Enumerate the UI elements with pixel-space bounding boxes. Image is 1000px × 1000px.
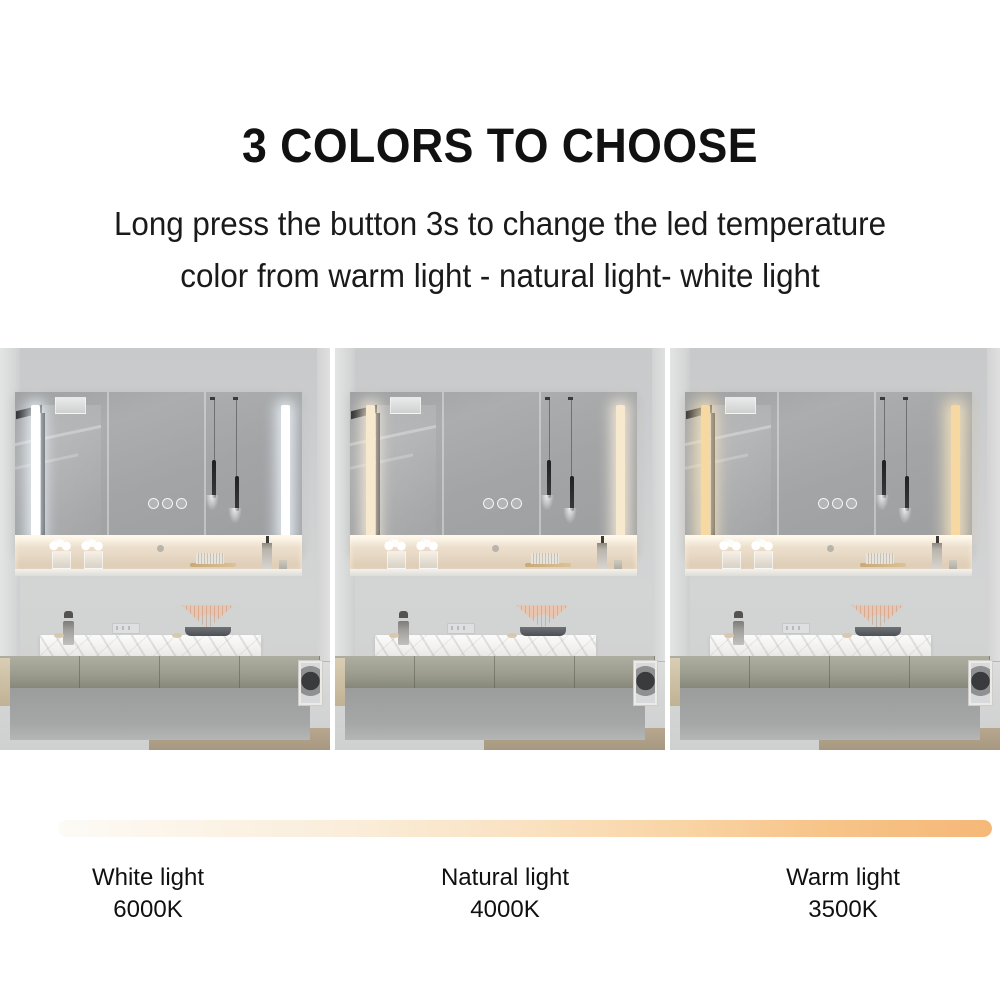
- touch-dot-1[interactable]: [818, 498, 829, 509]
- illuminated-shelf: [350, 535, 637, 569]
- vanity-drawers: [670, 656, 990, 688]
- vanity-drawer: [80, 656, 160, 688]
- pendant-light-glow-1: [205, 495, 219, 511]
- wooden-brush-bristles: [196, 553, 224, 564]
- led-strip-left: [366, 405, 376, 540]
- flower-vase-2: [754, 551, 773, 569]
- vanity-under-shadow: [680, 688, 980, 740]
- vanity-under-shadow: [345, 688, 645, 740]
- amenity-jar: [614, 560, 622, 569]
- pendant-wire-1: [884, 400, 885, 461]
- led-strip-left: [701, 405, 711, 540]
- cabinet-door-divider-1: [107, 392, 109, 553]
- shelf-front-lip: [15, 569, 302, 575]
- led-strip-left: [31, 405, 41, 540]
- pendant-wire-1: [549, 400, 550, 461]
- decorative-tray: [855, 627, 901, 636]
- touch-dot-2[interactable]: [497, 498, 508, 509]
- pendant-lamp-1: [547, 460, 551, 499]
- wall-outlet: [447, 623, 475, 634]
- page-subtitle: Long press the button 3s to change the l…: [25, 198, 975, 302]
- mirror-reflection-wall: [373, 405, 436, 540]
- shelf-front-lip: [685, 569, 972, 575]
- pendant-lamp-1: [212, 460, 216, 499]
- soap-dispenser: [733, 621, 744, 645]
- illuminated-shelf: [15, 535, 302, 569]
- subtitle-line-2: color from warm light - natural light- w…: [25, 250, 975, 302]
- flower-bouquet-2: [78, 538, 104, 551]
- wooden-brush-bristles: [531, 553, 559, 564]
- legend-item-white-light: White light 6000K: [18, 862, 278, 926]
- pendant-light-glow-2: [228, 508, 242, 524]
- wall-outlet: [112, 623, 140, 634]
- pendant-light-glow-2: [563, 508, 577, 524]
- mirror-reflection-hood: [725, 397, 756, 413]
- framed-artwork: [298, 660, 323, 706]
- color-temperature-legend: White light 6000K Natural light 4000K Wa…: [0, 862, 1000, 932]
- pendant-lamp-1: [882, 460, 886, 499]
- pendant-lamp-2: [570, 476, 574, 511]
- vanity-drawer: [830, 656, 910, 688]
- wall-outlet: [782, 623, 810, 634]
- shelf-sensor-dot: [157, 545, 164, 552]
- pendant-light-glow-1: [540, 495, 554, 511]
- shelf-sensor-dot: [492, 545, 499, 552]
- touch-dot-1[interactable]: [148, 498, 159, 509]
- pendant-lamp-2: [235, 476, 239, 511]
- decorative-tray: [185, 627, 231, 636]
- soap-bar-2: [842, 633, 852, 638]
- touch-dot-1[interactable]: [483, 498, 494, 509]
- vanity-drawer: [415, 656, 495, 688]
- mirror-reflection-dark-edge: [711, 413, 716, 535]
- legend-label-natural-light: Natural light: [441, 864, 569, 891]
- soap-bar-2: [172, 633, 182, 638]
- legend-kelvin-natural-light: 4000K: [375, 894, 635, 926]
- touch-control-dots[interactable]: [818, 498, 857, 509]
- soap-bar: [389, 633, 399, 638]
- mirror-reflection-hood: [55, 397, 86, 413]
- pendant-light-glow-1: [875, 495, 889, 511]
- framed-artwork: [633, 660, 658, 706]
- side-cabinet: [335, 658, 345, 706]
- touch-control-dots[interactable]: [483, 498, 522, 509]
- pendant-wire-1: [214, 400, 215, 461]
- mirror-cabinet: [350, 392, 637, 553]
- cabinet-door-divider-1: [442, 392, 444, 553]
- soap-dispenser-pump: [64, 611, 73, 618]
- vanity-drawer: [160, 656, 240, 688]
- framed-artwork: [968, 660, 993, 706]
- flower-vase-1: [387, 551, 406, 569]
- cabinet-door-divider-2: [204, 392, 206, 553]
- soap-dispenser: [63, 621, 74, 645]
- legend-kelvin-warm-light: 3500K: [713, 894, 973, 926]
- soap-bar: [54, 633, 64, 638]
- soap-bar-2: [507, 633, 517, 638]
- side-cabinet: [0, 658, 10, 706]
- color-temperature-gradient-bar: [58, 820, 992, 837]
- photo-warm-light[interactable]: [670, 348, 1000, 750]
- photo-natural-light[interactable]: [335, 348, 665, 750]
- amenity-bottle: [932, 543, 942, 569]
- soap-bar: [724, 633, 734, 638]
- mirror-reflection-wall: [708, 405, 771, 540]
- flower-vase-1: [52, 551, 71, 569]
- wooden-brush-bristles: [866, 553, 894, 564]
- touch-control-dots[interactable]: [148, 498, 187, 509]
- page-title: 3 COLORS TO CHOOSE: [35, 120, 965, 174]
- flower-bouquet-2: [748, 538, 774, 551]
- pendant-wire-2: [236, 400, 237, 477]
- legend-kelvin-white-light: 6000K: [18, 894, 278, 926]
- shelf-sensor-dot: [827, 545, 834, 552]
- legend-item-warm-light: Warm light 3500K: [713, 862, 973, 926]
- led-strip-right: [951, 405, 961, 540]
- touch-dot-3[interactable]: [846, 498, 857, 509]
- amenity-bottle: [597, 543, 607, 569]
- pendant-wire-2: [906, 400, 907, 477]
- mirror-reflection-hood: [390, 397, 421, 413]
- vanity-under-shadow: [10, 688, 310, 740]
- flower-vase-2: [84, 551, 103, 569]
- mirror-reflection-dark-edge: [41, 413, 46, 535]
- mirror-reflection-wall: [38, 405, 101, 540]
- cabinet-door-divider-1: [777, 392, 779, 553]
- touch-dot-3[interactable]: [511, 498, 522, 509]
- vanity-drawer: [335, 656, 415, 688]
- mirror-reflection-dark-edge: [376, 413, 381, 535]
- side-cabinet: [670, 658, 680, 706]
- mirror-cabinet: [15, 392, 302, 553]
- mirror-cabinet: [685, 392, 972, 553]
- vanity-drawers: [0, 656, 320, 688]
- product-photo-strip: [0, 348, 1000, 750]
- soap-dispenser: [398, 621, 409, 645]
- amenity-bottle-cap: [936, 536, 939, 543]
- vanity-drawer: [750, 656, 830, 688]
- flower-bouquet-1: [381, 538, 407, 551]
- photo-white-light[interactable]: [0, 348, 330, 750]
- decorative-tray: [520, 627, 566, 636]
- vanity-drawers: [335, 656, 655, 688]
- cabinet-door-divider-2: [539, 392, 541, 553]
- soap-dispenser-pump: [399, 611, 408, 618]
- legend-label-warm-light: Warm light: [786, 864, 900, 891]
- illuminated-shelf: [685, 535, 972, 569]
- vanity-drawer: [0, 656, 80, 688]
- soap-dispenser-pump: [734, 611, 743, 618]
- pendant-light-glow-2: [898, 508, 912, 524]
- flower-vase-2: [419, 551, 438, 569]
- amenity-bottle-cap: [266, 536, 269, 543]
- touch-dot-2[interactable]: [832, 498, 843, 509]
- pendant-lamp-2: [905, 476, 909, 511]
- flower-bouquet-2: [413, 538, 439, 551]
- amenity-bottle: [262, 543, 272, 569]
- legend-label-white-light: White light: [92, 864, 204, 891]
- vanity-drawer: [670, 656, 750, 688]
- cabinet-door-divider-2: [874, 392, 876, 553]
- amenity-bottle-cap: [601, 536, 604, 543]
- flower-bouquet-1: [46, 538, 72, 551]
- subtitle-line-1: Long press the button 3s to change the l…: [25, 198, 975, 250]
- shelf-front-lip: [350, 569, 637, 575]
- legend-item-natural-light: Natural light 4000K: [375, 862, 635, 926]
- vanity-drawer: [495, 656, 575, 688]
- pendant-wire-2: [571, 400, 572, 477]
- flower-bouquet-1: [716, 538, 742, 551]
- amenity-jar: [279, 560, 287, 569]
- flower-vase-1: [722, 551, 741, 569]
- led-strip-right: [616, 405, 626, 540]
- led-strip-right: [281, 405, 291, 540]
- amenity-jar: [949, 560, 957, 569]
- touch-dot-2[interactable]: [162, 498, 173, 509]
- touch-dot-3[interactable]: [176, 498, 187, 509]
